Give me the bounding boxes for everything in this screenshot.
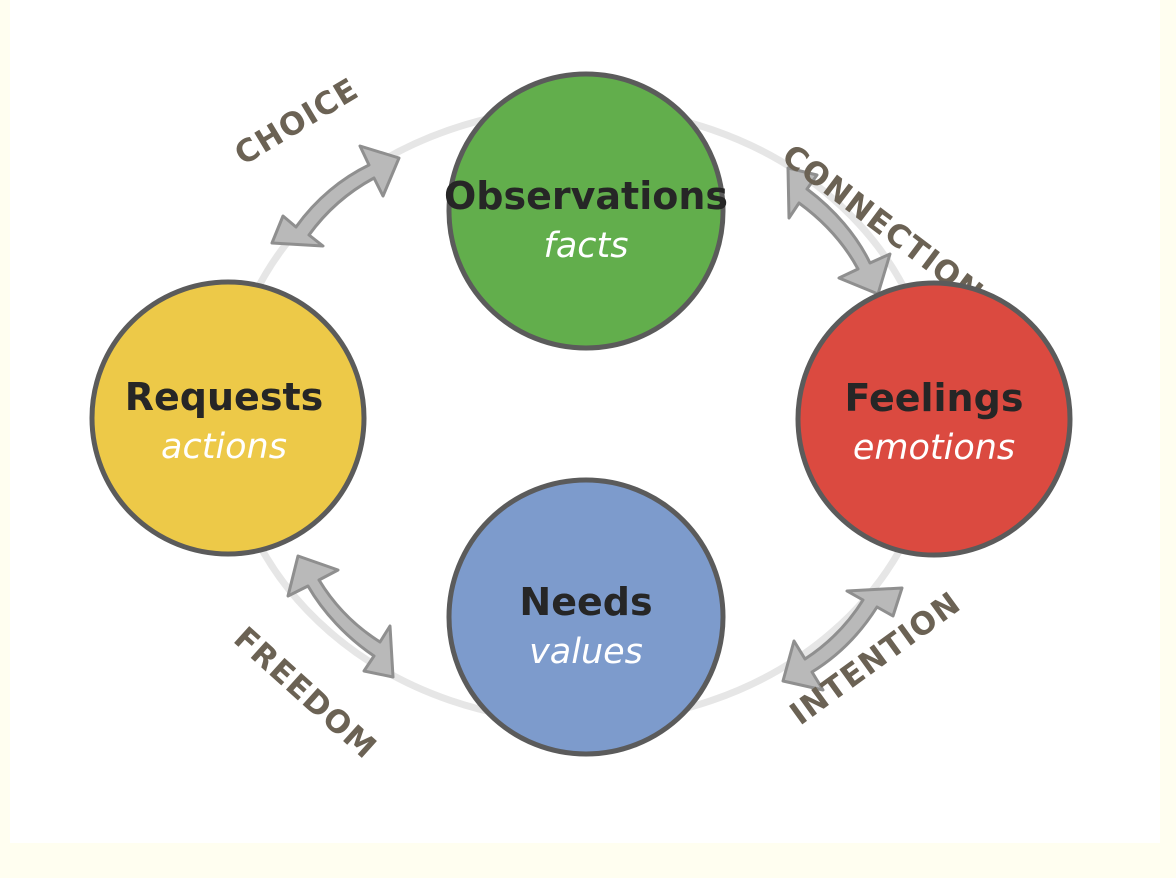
node-needs-title: Needs [519, 580, 652, 624]
nvc-cycle-diagram: CHOICE CONNECTION INTENTION FREEDOM Obse… [0, 0, 1176, 878]
diagram-canvas: CHOICE CONNECTION INTENTION FREEDOM Obse… [0, 0, 1176, 878]
node-observations[interactable]: Observations facts [444, 74, 728, 348]
node-feelings-title: Feelings [845, 376, 1024, 420]
node-requests-subtitle: actions [161, 427, 287, 467]
node-needs[interactable]: Needs values [449, 480, 723, 754]
node-needs-subtitle: values [529, 632, 643, 672]
arrow-choice [272, 146, 399, 246]
node-requests[interactable]: Requests actions [92, 282, 364, 554]
node-observations-subtitle: facts [544, 226, 629, 266]
node-feelings[interactable]: Feelings emotions [798, 283, 1070, 555]
node-requests-title: Requests [125, 375, 323, 419]
node-feelings-subtitle: emotions [853, 428, 1015, 468]
edge-label-choice: CHOICE [229, 71, 366, 173]
arrow-freedom [288, 556, 393, 677]
node-observations-title: Observations [444, 174, 728, 218]
